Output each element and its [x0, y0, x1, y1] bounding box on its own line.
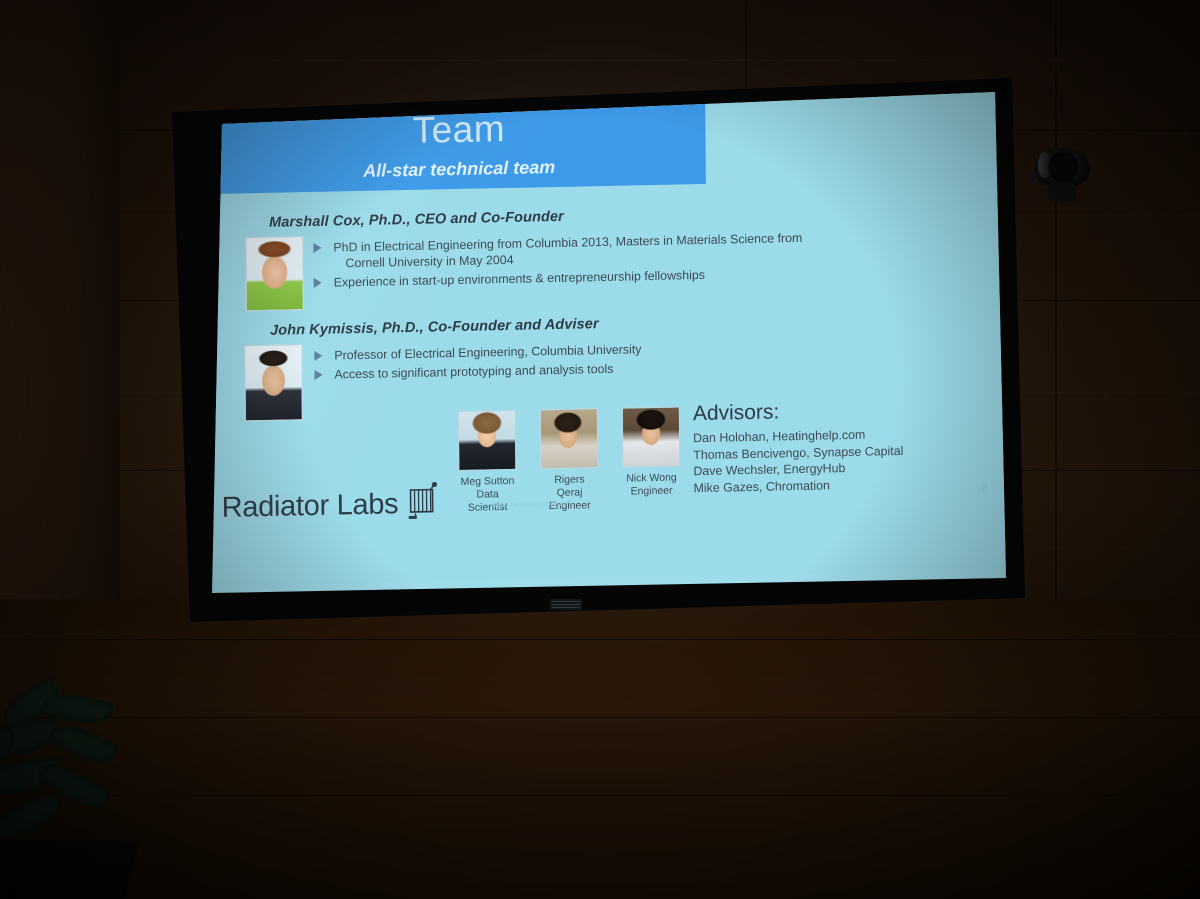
portrait-nick-wong — [622, 406, 681, 467]
team-member-name: Nick Wong — [622, 471, 680, 485]
team-member-name: Rigers Qeraj — [540, 473, 598, 500]
footer-url: www.radiatorlabs.com — [491, 499, 573, 510]
advisors-section: Advisors: Dan Holohan, Heatinghelp.com T… — [693, 396, 994, 496]
slide-number: 8 — [982, 483, 988, 494]
team-member-card: Nick Wong Engineer — [622, 406, 681, 498]
team-member-card: Rigers Qeraj Engineer — [540, 408, 599, 513]
team-thumbnails: Meg Sutton Data Scientist Rigers Qeraj E… — [458, 406, 680, 411]
person-name-john-kymissis: John Kymissis, Ph.D., Co-Founder and Adv… — [270, 316, 599, 339]
screen-brand-badge — [550, 599, 582, 610]
portrait-meg-sutton — [458, 410, 517, 471]
person-name-marshall-cox: Marshall Cox, Ph.D., CEO and Co-Founder — [269, 209, 564, 231]
bullet-triangle-icon — [314, 278, 322, 288]
bullet-text: Experience in start-up environments & en… — [334, 268, 705, 290]
conference-camera — [1028, 140, 1100, 208]
bullets-marshall-cox: PhD in Electrical Engineering from Colum… — [309, 229, 829, 294]
screen-surface: Team All-star technical team Marshall Co… — [150, 78, 1030, 638]
advisors-heading: Advisors: — [693, 396, 993, 426]
slide-subtitle: All-star technical team — [213, 154, 706, 185]
logo-text: Radiator Labs — [222, 488, 399, 525]
bullet-triangle-icon — [313, 243, 321, 253]
bullet-text: Professor of Electrical Engineering, Col… — [334, 342, 641, 362]
conference-room-scene: Team All-star technical team Marshall Co… — [0, 0, 1200, 899]
portrait-marshall-cox — [245, 236, 304, 311]
projection-screen: Team All-star technical team Marshall Co… — [150, 78, 1030, 638]
portrait-john-kymissis — [244, 344, 303, 421]
bullets-john-kymissis: Professor of Electrical Engineering, Col… — [310, 338, 790, 386]
presentation-slide: Team All-star technical team Marshall Co… — [212, 78, 1006, 586]
bullet-triangle-icon — [314, 370, 322, 380]
portrait-rigers-qeraj — [540, 408, 599, 469]
potted-plant — [0, 690, 190, 899]
radiator-icon — [404, 481, 438, 527]
team-member-role: Engineer — [623, 484, 681, 498]
bullet-text: Access to significant prototyping and an… — [334, 362, 613, 382]
camera-lens-icon — [1048, 152, 1078, 182]
bullet-triangle-icon — [314, 351, 322, 361]
team-member-name: Meg Sutton — [458, 475, 516, 489]
company-logo: Radiator Labs — [221, 481, 438, 530]
